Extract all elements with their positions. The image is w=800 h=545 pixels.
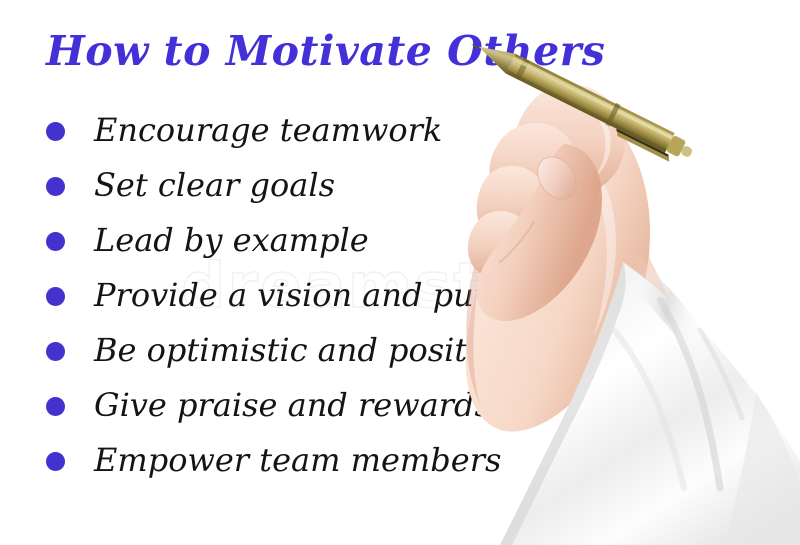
list-item: Give praise and rewards	[46, 379, 564, 434]
list-item: Empower team members	[46, 434, 564, 489]
motivation-tips-list: Encourage teamwork Set clear goals Lead …	[46, 104, 564, 489]
list-item-label: Empower team members	[94, 444, 501, 476]
bullet-icon	[46, 122, 65, 141]
bullet-icon	[46, 397, 65, 416]
list-item-label: Set clear goals	[94, 169, 335, 201]
bullet-icon	[46, 287, 65, 306]
watermark-spiral-icon	[606, 232, 650, 276]
forearm	[565, 200, 800, 545]
list-item: Set clear goals	[46, 159, 564, 214]
bullet-icon	[46, 342, 65, 361]
list-item-label: Be optimistic and positive	[94, 334, 515, 366]
list-item: Encourage teamwork	[46, 104, 564, 159]
list-item-label: Give praise and rewards	[94, 389, 491, 421]
bullet-icon	[46, 232, 65, 251]
list-item: Be optimistic and positive	[46, 324, 564, 379]
list-item-label: Lead by example	[94, 224, 369, 256]
bullet-icon	[46, 177, 65, 196]
list-item-label: Provide a vision and purpose	[94, 279, 564, 311]
image-canvas: dreamstime How to Motivate Others Encour…	[0, 0, 800, 545]
bullet-icon	[46, 452, 65, 471]
page-title: How to Motivate Others	[46, 31, 605, 72]
list-item: Provide a vision and purpose	[46, 269, 564, 324]
list-item: Lead by example	[46, 214, 564, 269]
list-item-label: Encourage teamwork	[94, 114, 442, 146]
